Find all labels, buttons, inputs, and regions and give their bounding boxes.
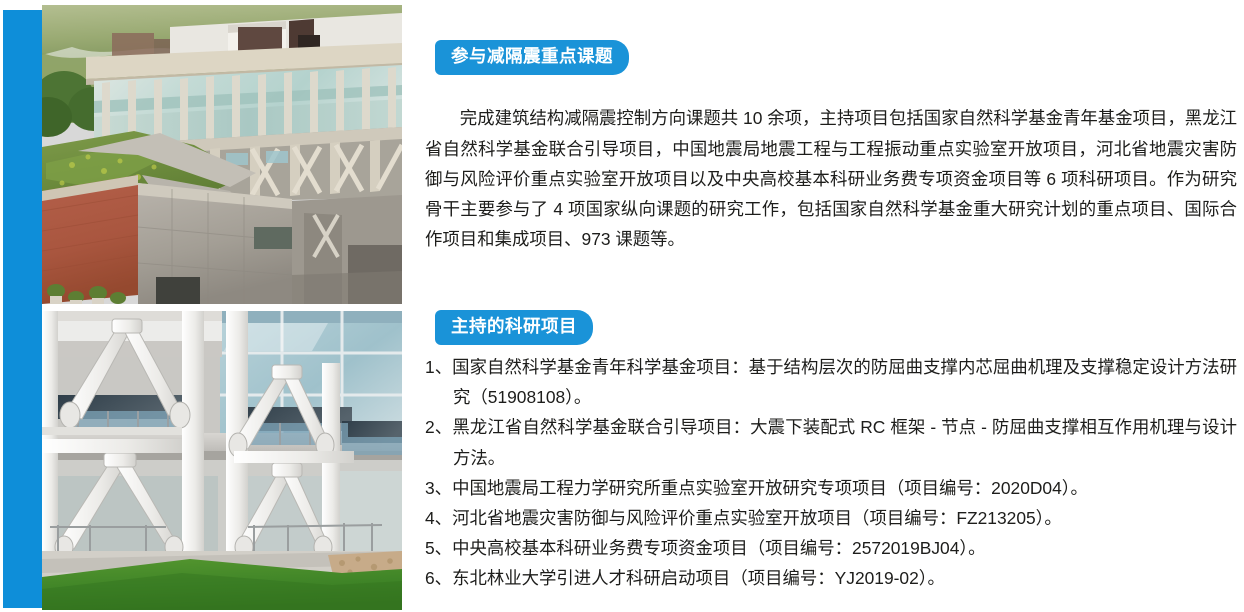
list-item: 3、中国地震局工程力学研究所重点实验室开放研究专项项目（项目编号：2020D04… (425, 473, 1237, 503)
hosted-projects-list: 1、国家自然科学基金青年科学基金项目：基于结构层次的防屈曲支撑内芯屈曲机理及支撑… (425, 352, 1237, 594)
content-column: 参与减隔震重点课题 完成建筑结构减隔震控制方向课题共 10 余项，主持项目包括国… (425, 0, 1237, 612)
photo-green-roof-building-exterior (42, 5, 402, 304)
list-item: 1、国家自然科学基金青年科学基金项目：基于结构层次的防屈曲支撑内芯屈曲机理及支撑… (425, 352, 1237, 412)
list-item: 6、东北林业大学引进人才科研启动项目（项目编号：YJ2019-02）。 (425, 563, 1237, 593)
section-badge-participated-topics: 参与减隔震重点课题 (435, 40, 629, 75)
list-item: 4、河北省地震灾害防御与风险评价重点实验室开放项目（项目编号：FZ213205）… (425, 503, 1237, 533)
list-item: 2、黑龙江省自然科学基金联合引导项目：大震下装配式 RC 框架 - 节点 - 防… (425, 412, 1237, 472)
photo-column (42, 5, 402, 610)
photo-buckling-restrained-brace-facade (42, 311, 402, 610)
participated-topics-paragraph: 完成建筑结构减隔震控制方向课题共 10 余项，主持项目包括国家自然科学基金青年基… (425, 103, 1237, 254)
left-accent-bar (3, 10, 42, 608)
section-badge-hosted-projects: 主持的科研项目 (435, 310, 593, 345)
page-root: 参与减隔震重点课题 完成建筑结构减隔震控制方向课题共 10 余项，主持项目包括国… (0, 0, 1244, 612)
list-item: 5、中央高校基本科研业务费专项资金项目（项目编号：2572019BJ04）。 (425, 533, 1237, 563)
